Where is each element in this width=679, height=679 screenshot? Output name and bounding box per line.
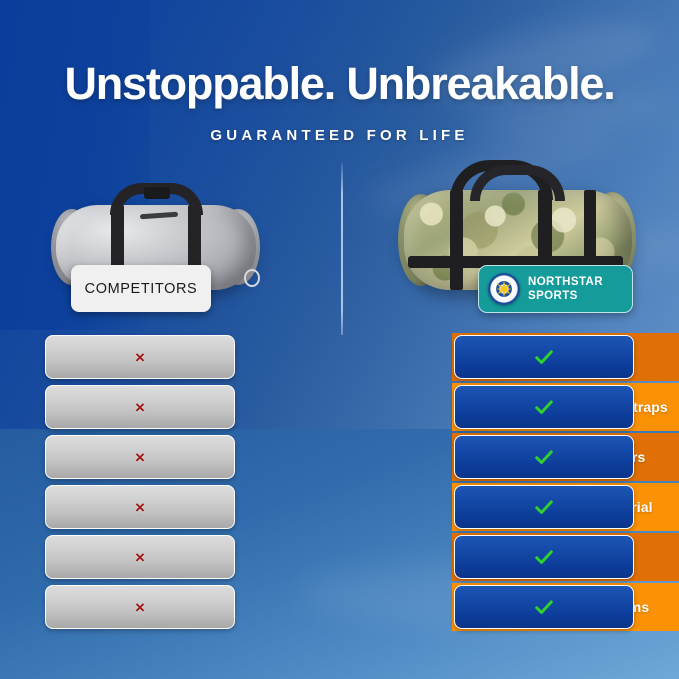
bag-strap <box>450 190 463 290</box>
bag-handle-wrap <box>144 187 170 199</box>
table-row: × <box>0 533 679 581</box>
competitors-label: COMPETITORS <box>85 281 198 297</box>
competitors-badge: COMPETITORS <box>71 265 211 312</box>
competitor-cell: × <box>45 585 235 629</box>
x-icon: × <box>135 499 145 516</box>
northstar-cell <box>454 485 634 529</box>
check-icon <box>533 446 555 468</box>
northstar-cell <box>454 585 634 629</box>
x-icon: × <box>135 399 145 416</box>
check-icon <box>533 396 555 418</box>
table-row: × <box>0 433 679 481</box>
northstar-cell <box>454 335 634 379</box>
competitor-cell: × <box>45 335 235 379</box>
check-icon <box>533 346 555 368</box>
table-row: × <box>0 483 679 531</box>
brand-line-2: SPORTS <box>528 290 578 302</box>
competitor-cell: × <box>45 535 235 579</box>
compass-star-logo-icon <box>488 273 520 305</box>
table-row: × <box>0 383 679 431</box>
check-icon <box>533 596 555 618</box>
northstar-cell <box>454 385 634 429</box>
competitor-cell: × <box>45 485 235 529</box>
table-row: × <box>0 333 679 381</box>
northstar-cell <box>454 535 634 579</box>
product-comparison-infographic: Unstoppable. Unbreakable. GUARANTEED FOR… <box>0 0 679 679</box>
column-divider <box>341 163 343 335</box>
page-title: Unstoppable. Unbreakable. <box>0 58 679 110</box>
check-icon <box>533 496 555 518</box>
northstar-cell <box>454 435 634 479</box>
check-icon <box>533 546 555 568</box>
x-icon: × <box>135 549 145 566</box>
brand-line-1: NORTHSTAR <box>528 276 603 288</box>
page-subtitle: GUARANTEED FOR LIFE <box>0 127 679 144</box>
northstar-brand-label: NORTHSTAR SPORTS <box>528 275 603 303</box>
northstar-sports-badge: NORTHSTAR SPORTS <box>478 265 633 313</box>
table-row: × <box>0 583 679 631</box>
x-icon: × <box>135 349 145 366</box>
x-icon: × <box>135 599 145 616</box>
competitor-cell: × <box>45 385 235 429</box>
comparison-table: Lifetime GuaranteeHeavy-Duty Reinforce S… <box>0 333 679 640</box>
competitor-cell: × <box>45 435 235 479</box>
x-icon: × <box>135 449 145 466</box>
bag-d-ring <box>244 269 260 287</box>
